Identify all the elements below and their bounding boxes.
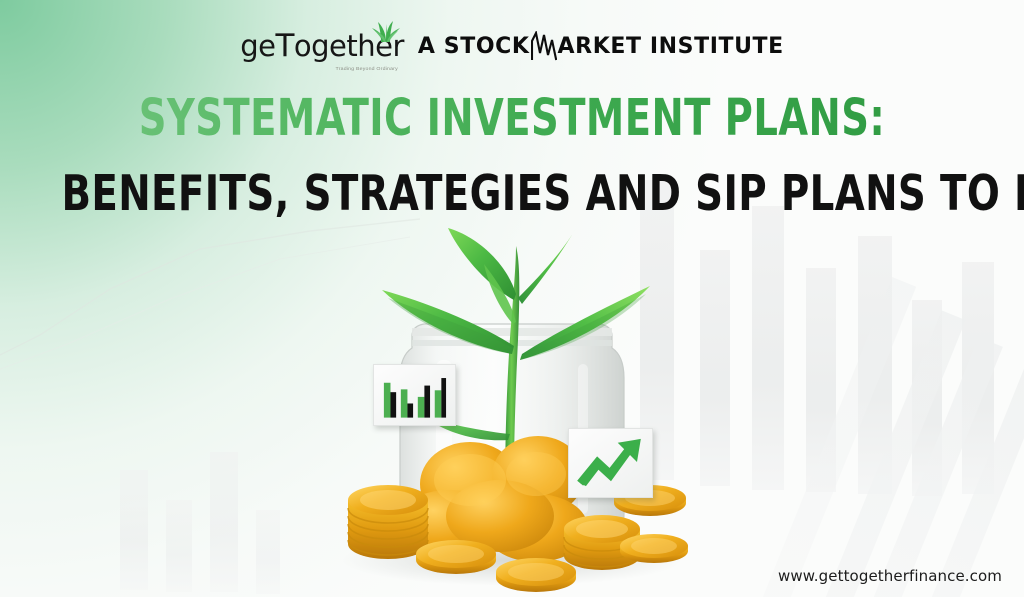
headline-block: SYSTEMATIC INVESTMENT PLANS: BENEFITS, S…: [0, 92, 1024, 220]
coin-stack-left: [348, 485, 428, 559]
tagline-after: ARKET INSTITUTE: [558, 34, 784, 59]
logo-t: T: [275, 28, 293, 64]
logo-tagline: Trading Beyond Ordinary: [336, 66, 398, 72]
coin-single: [496, 558, 576, 592]
institute-tagline: A STOCK ARKET INSTITUTE: [418, 31, 784, 61]
tagline-before: A STOCK: [418, 34, 530, 59]
coin-single: [416, 540, 496, 574]
heartbeat-pulse-icon: [531, 31, 557, 61]
green-sprout-icon: [366, 20, 406, 42]
website-url[interactable]: www.gettogetherfinance.com: [778, 567, 1002, 585]
bar-chart-icon: [382, 372, 447, 418]
bar-chart-icon-card: [373, 364, 456, 426]
page-title: SYSTEMATIC INVESTMENT PLANS:: [82, 92, 942, 146]
page-subtitle: BENEFITS, STRATEGIES AND SIP PLANS TO IN…: [61, 168, 962, 220]
growth-arrow-icon-card: [568, 428, 653, 498]
logo-ge: ge: [240, 29, 275, 63]
brand-bar: geTogether Trading Beyond Ordinary A STO…: [0, 24, 1024, 68]
coin-single: [620, 534, 688, 563]
gettogether-logo[interactable]: geTogether Trading Beyond Ordinary: [240, 31, 404, 62]
upward-trend-arrow-icon: [577, 437, 644, 489]
